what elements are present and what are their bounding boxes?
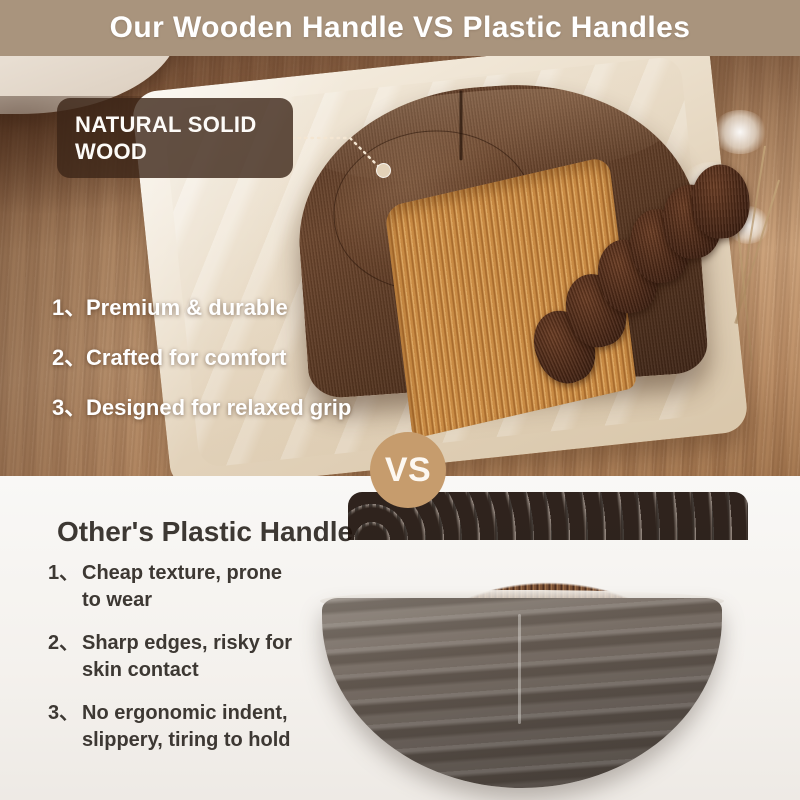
- handle-groove: [459, 90, 462, 160]
- list-item-text: Designed for relaxed grip: [86, 395, 351, 421]
- list-item-number: 1、: [48, 560, 82, 587]
- vs-label: VS: [385, 451, 431, 490]
- list-item-number: 2、: [52, 340, 86, 372]
- plastic-brush-body: [322, 598, 722, 788]
- product-comparison-infographic: NATURAL SOLID WOOD 1、 Premium & durable …: [0, 0, 800, 800]
- natural-solid-wood-badge: NATURAL SOLID WOOD: [57, 98, 293, 178]
- list-item: 3、 Designed for relaxed grip: [52, 390, 351, 422]
- bristle-tufts: [522, 148, 749, 412]
- list-item: 2、 Crafted for comfort: [52, 340, 351, 372]
- list-item-number: 2、: [48, 630, 82, 657]
- callout-line-1: NATURAL SOLID: [75, 111, 275, 138]
- callout-leader-line: [292, 120, 402, 190]
- list-item-number: 3、: [52, 390, 86, 422]
- list-item-number: 3、: [48, 700, 82, 727]
- page-title: Our Wooden Handle VS Plastic Handles: [110, 11, 691, 45]
- wooden-features-list: 1、 Premium & durable 2、 Crafted for comf…: [52, 290, 351, 440]
- plastic-brush-seam: [518, 614, 521, 724]
- list-item: 1、 Premium & durable: [52, 290, 351, 322]
- list-item-number: 1、: [52, 290, 86, 322]
- wooden-handle-panel: NATURAL SOLID WOOD 1、 Premium & durable …: [0, 0, 800, 476]
- list-item-text: Crafted for comfort: [86, 345, 286, 371]
- callout-line-2: WOOD: [75, 138, 275, 165]
- header-banner: Our Wooden Handle VS Plastic Handles: [0, 0, 800, 56]
- plastic-handle-brush-image: [290, 486, 760, 796]
- plastic-handle-panel: Other's Plastic Handle 1、 Cheap texture,…: [0, 476, 800, 800]
- callout-anchor-dot-icon: [376, 163, 391, 178]
- list-item-text: Premium & durable: [86, 295, 288, 321]
- vs-badge: VS: [370, 432, 446, 508]
